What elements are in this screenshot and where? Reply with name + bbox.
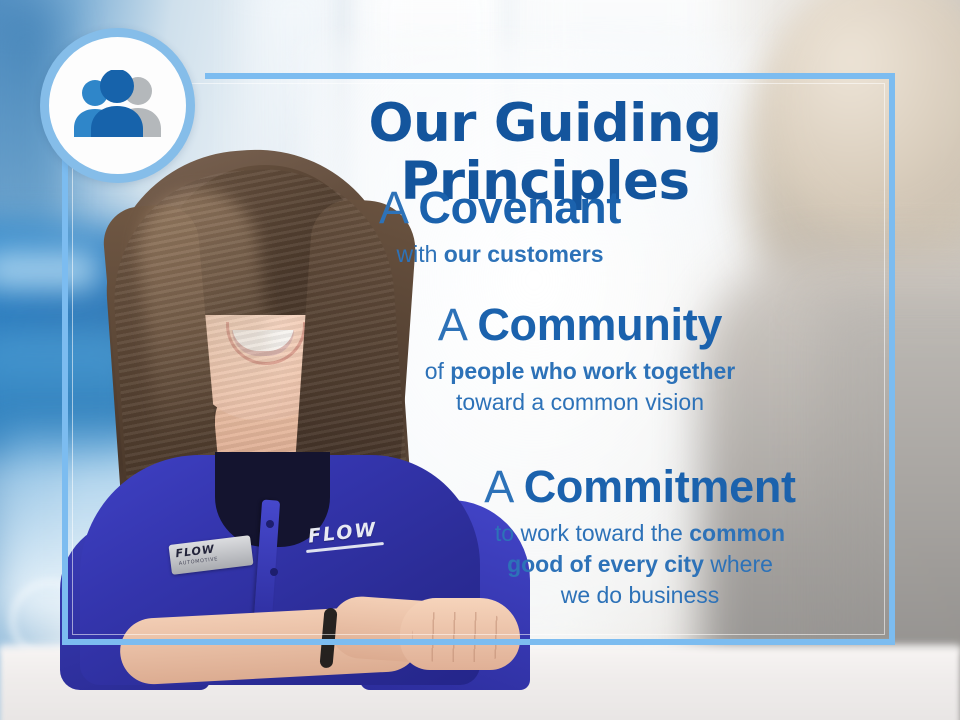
detail-line: with our customers [280,239,720,270]
principle-community-detail: of people who work togethertoward a comm… [330,356,830,418]
detail-text: where [704,551,773,577]
detail-text: with [396,241,443,267]
principle-commitment-heading: A Commitment [390,462,890,512]
principle-community-lead: A [438,299,465,350]
principle-commitment-keyword: Commitment [524,461,796,512]
principle-covenant-detail: with our customers [280,239,720,270]
principle-community-keyword: Community [477,299,722,350]
detail-line: good of every city where [390,549,890,580]
detail-emphasis: our customers [444,241,604,267]
principle-covenant-heading: A Covenant [280,183,720,233]
principle-commitment: A Commitment to work toward the commongo… [390,462,890,611]
detail-text: to work toward the [495,520,689,546]
detail-emphasis: good of every city [507,551,704,577]
detail-text: of [425,358,451,384]
principle-commitment-lead: A [484,461,511,512]
principle-covenant-lead: A [379,182,406,233]
people-group-badge [40,28,195,183]
principle-covenant-keyword: Covenant [418,182,621,233]
detail-line: of people who work together [330,356,830,387]
detail-line: toward a common vision [330,387,830,418]
detail-emphasis: people who work together [450,358,735,384]
detail-text: toward a common vision [456,389,704,415]
detail-emphasis: common [689,520,785,546]
detail-line: we do business [390,580,890,611]
detail-text: we do business [561,582,720,608]
principle-commitment-detail: to work toward the commongood of every c… [390,518,890,611]
principle-community-heading: A Community [330,300,830,350]
banner-canvas: FLOW AUTOMOTIVE FLOW [0,0,960,720]
detail-line: to work toward the common [390,518,890,549]
principle-covenant: A Covenant with our customers [280,183,720,270]
people-group-icon [68,70,168,142]
principle-community: A Community of people who work togethert… [330,300,830,418]
decorative-frame-top-edge [205,73,895,79]
